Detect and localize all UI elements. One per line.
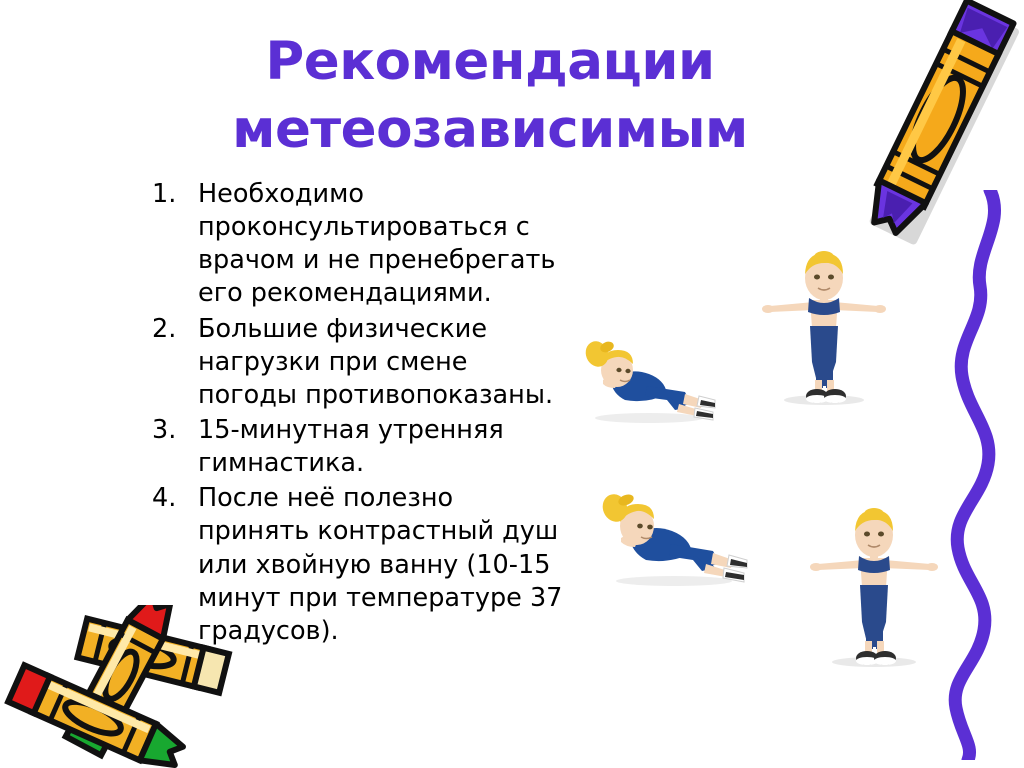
situp-exercise-figure — [575, 330, 717, 426]
recommendations-list: 1. Необходимо проконсультироваться с вра… — [150, 178, 570, 650]
list-item-text: Большие физические нагрузки при смене по… — [198, 313, 570, 412]
purple-wavy-line-icon — [928, 190, 1024, 760]
list-item-text: После неё полезно принять контрастный ду… — [198, 482, 570, 648]
page-title: Рекомендации метеозависимым — [180, 28, 800, 164]
crayon-bottom-left-icon — [2, 605, 242, 768]
list-item-text: 15-минутная утренняя гимнастика. — [198, 414, 570, 480]
standing-exercise-figure — [800, 505, 945, 673]
slide-canvas: Рекомендации метеозависимым 1. Необходим… — [0, 0, 1024, 768]
standing-exercise-figure — [752, 250, 892, 410]
list-item: 3. 15-минутная утренняя гимнастика. — [150, 414, 570, 480]
list-item-number: 2. — [152, 313, 192, 346]
list-item-text: Необходимо проконсультироваться с врачом… — [198, 178, 570, 311]
list-item: 1. Необходимо проконсультироваться с вра… — [150, 178, 570, 311]
list-item: 2. Большие физические нагрузки при смене… — [150, 313, 570, 412]
situp-exercise-figure — [592, 482, 750, 590]
list-item-number: 4. — [152, 482, 192, 515]
list-item-number: 3. — [152, 414, 192, 447]
list-item-number: 1. — [152, 178, 192, 211]
